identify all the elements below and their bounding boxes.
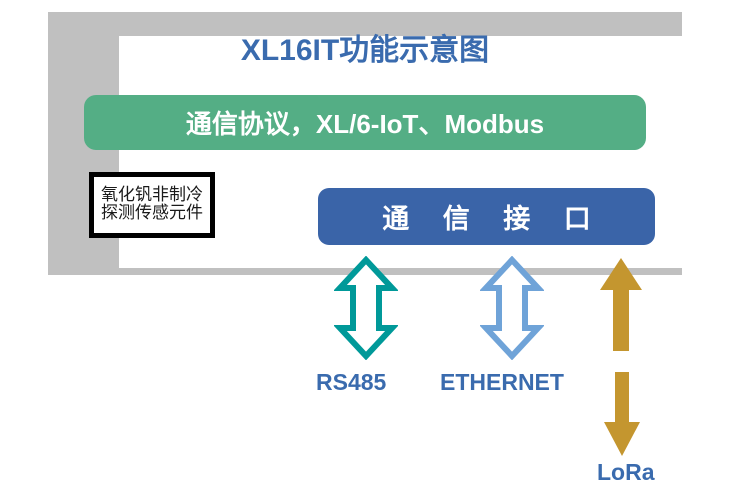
lora-up-arrow-icon bbox=[598, 256, 644, 353]
sensor-box: 氧化钒非制冷 探测传感元件 bbox=[89, 172, 215, 238]
interface-label-lora: LoRa bbox=[597, 459, 655, 486]
page-title: XL16IT功能示意图 bbox=[71, 31, 659, 71]
lora-down-arrow-icon bbox=[602, 370, 642, 458]
interface-label-ethernet: ETHERNET bbox=[440, 369, 564, 396]
protocol-banner: 通信协议，XL/6-IoT、Modbus bbox=[84, 95, 646, 150]
comm-interface-box: 通 信 接 口 bbox=[318, 188, 655, 245]
protocol-banner-label: 通信协议，XL/6-IoT、Modbus bbox=[186, 104, 544, 141]
sensor-box-line2: 探测传感元件 bbox=[101, 205, 203, 223]
rs485-up-down-arrow-icon bbox=[334, 256, 398, 360]
interface-label-rs485: RS485 bbox=[316, 369, 386, 396]
comm-interface-label: 通 信 接 口 bbox=[369, 197, 604, 236]
diagram-canvas: XL16IT功能示意图 通信协议，XL/6-IoT、Modbus 氧化钒非制冷 … bbox=[0, 0, 750, 500]
ethernet-up-down-arrow-icon bbox=[480, 256, 544, 360]
